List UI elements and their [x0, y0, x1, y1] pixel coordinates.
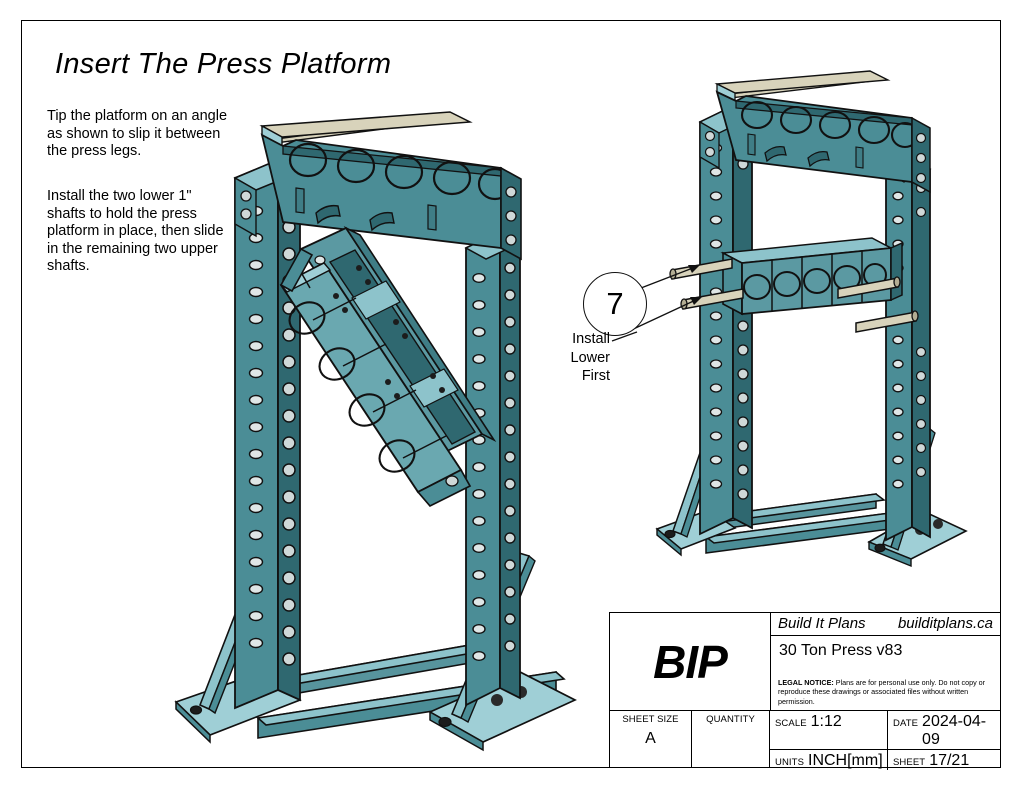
- callout-label: Install Lower First: [524, 330, 610, 386]
- project-name: 30 Ton Press v83: [771, 636, 1000, 678]
- instruction-paragraph-1: Tip the platform on an angle as shown to…: [47, 108, 232, 161]
- tilted-press-platform: [281, 228, 494, 506]
- legal-notice-heading: LEGAL NOTICE:: [778, 678, 834, 687]
- units-cell: UNITS INCH[mm]: [770, 750, 888, 770]
- units-sheet-row: UNITS INCH[mm] SHEET 17/21: [770, 750, 1000, 770]
- callout-label-line-2: Lower: [524, 349, 610, 368]
- sheet-number-cell: SHEET 17/21: [888, 750, 1000, 770]
- title-block-info: Build It Plans builditplans.ca 30 Ton Pr…: [771, 613, 1000, 710]
- left-press-assembly: [176, 112, 575, 750]
- title-block-fields: SCALE 1:12 DATE 2024-04-09 UNITS INCH[mm…: [770, 711, 1000, 767]
- scale-label: SCALE: [775, 718, 807, 729]
- sheet-size-label: SHEET SIZE: [610, 714, 691, 725]
- bip-logo: BIP: [610, 613, 771, 710]
- drawing-sheet: Insert The Press Platform Tip the platfo…: [0, 0, 1024, 791]
- callout-balloon-number: 7: [606, 286, 623, 322]
- quantity-label: QUANTITY: [692, 714, 769, 725]
- sheet-size-value: A: [610, 730, 691, 748]
- legal-notice: LEGAL NOTICE: Plans are for personal use…: [771, 678, 1000, 710]
- date-cell: DATE 2024-04-09: [888, 711, 1000, 749]
- right-column-hole-column: [473, 274, 485, 661]
- right-press-assembly: [612, 71, 966, 566]
- instruction-paragraph-2: Install the two lower 1" shafts to hold …: [47, 188, 232, 276]
- title-block: BIP Build It Plans builditplans.ca 30 To…: [609, 612, 1001, 768]
- sheet-size-cell: SHEET SIZE A: [610, 711, 692, 767]
- right-column-side-holes: [505, 263, 515, 651]
- callout-label-line-1: Install: [524, 330, 610, 349]
- bip-logo-text: BIP: [653, 635, 727, 689]
- units-label: UNITS: [775, 757, 804, 768]
- quantity-cell: QUANTITY: [692, 711, 770, 767]
- page-title: Insert The Press Platform: [55, 48, 391, 81]
- callout-balloon-7[interactable]: 7: [583, 272, 647, 336]
- website-link[interactable]: builditplans.ca: [898, 615, 993, 632]
- title-block-upper: BIP Build It Plans builditplans.ca 30 To…: [610, 613, 1000, 711]
- scale-cell: SCALE 1:12: [770, 711, 888, 749]
- date-value: 2024-04-09: [922, 713, 996, 749]
- units-value: INCH[mm]: [808, 752, 883, 770]
- sheet-label: SHEET: [893, 757, 925, 768]
- callout-label-line-3: First: [524, 367, 610, 386]
- title-block-lower: SHEET SIZE A QUANTITY SCALE 1:12 DATE 20…: [610, 711, 1000, 767]
- sheet-value: 17/21: [929, 752, 969, 770]
- right-view-left-column-holes: [711, 144, 722, 488]
- scale-value: 1:12: [811, 713, 842, 731]
- brand-row: Build It Plans builditplans.ca: [771, 613, 1000, 636]
- brand-name: Build It Plans: [778, 615, 866, 632]
- scale-date-row: SCALE 1:12 DATE 2024-04-09: [770, 711, 1000, 750]
- date-label: DATE: [893, 718, 918, 729]
